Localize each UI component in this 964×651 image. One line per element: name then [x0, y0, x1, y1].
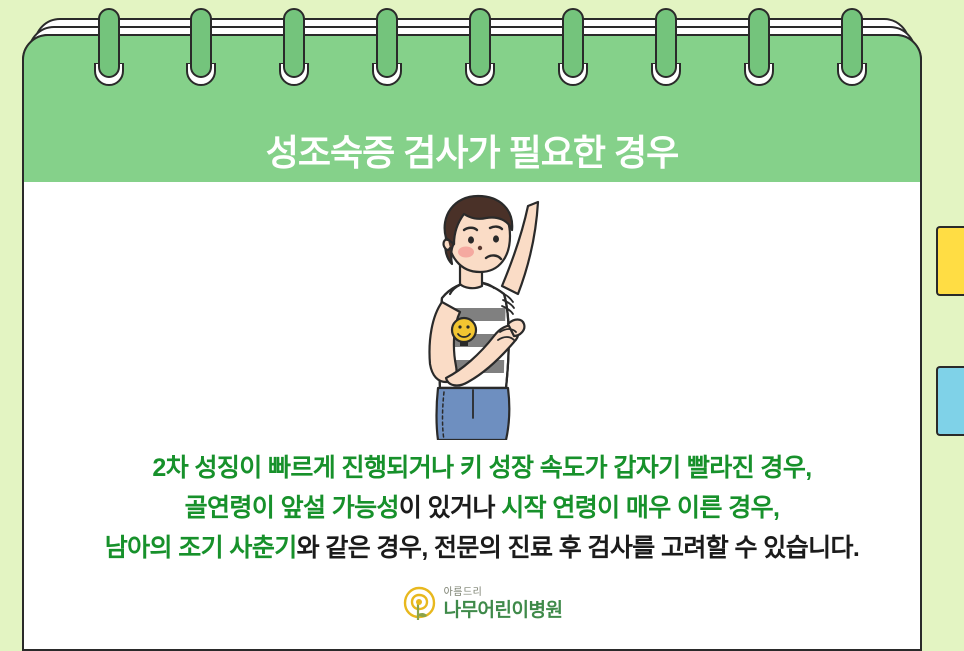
header-card: 성조숙증 검사가 필요한 경우: [22, 34, 922, 184]
side-tab-yellow[interactable]: [936, 226, 964, 296]
body-line-2-seg-2: 이 있거나: [399, 494, 501, 522]
acne-spot: [478, 246, 482, 250]
body-line-1: 2차 성징이 빠르게 진행되거나 키 성장 속도가 갑자기 빨라진 경우,: [0, 448, 964, 488]
body-text: 2차 성징이 빠르게 진행되거나 키 성장 속도가 갑자기 빨라진 경우, 골연…: [0, 448, 964, 568]
body-line-3: 남아의 조기 사춘기와 같은 경우, 전문의 진료 후 검사를 고려할 수 있습…: [0, 528, 964, 568]
boy-illustration: [382, 190, 582, 440]
body-line-2-seg-3: 시작 연령이 매우 이른 경우,: [501, 494, 779, 522]
body-line-1-seg-1: 2차 성징이 빠르게 진행되거나 키 성장 속도가 갑자기 빨라진 경우,: [152, 454, 811, 482]
poster-canvas: 성조숙증 검사가 필요한 경우: [0, 0, 964, 651]
body-line-3-seg-2: 와 같은 경우, 전문의 진료 후 검사를 고려할 수 있습니다.: [297, 534, 860, 562]
logo-text: 아름드리 나무어린이병원: [444, 588, 563, 620]
logo-subtitle: 아름드리: [444, 588, 563, 598]
tree-emblem-icon: [402, 586, 436, 622]
body-line-3-seg-1: 남아의 조기 사춘기: [105, 534, 297, 562]
body-line-2: 골연령이 앞설 가능성이 있거나 시작 연령이 매우 이른 경우,: [0, 488, 964, 528]
hospital-logo: 아름드리 나무어린이병원: [0, 586, 964, 622]
body-line-2-seg-1: 골연령이 앞설 가능성: [185, 494, 399, 522]
page-title: 성조숙증 검사가 필요한 경우: [24, 124, 920, 176]
eye-right: [493, 235, 499, 242]
logo-name: 나무어린이병원: [444, 601, 563, 620]
eye-left: [468, 236, 474, 243]
blush: [458, 247, 474, 258]
side-tab-blue[interactable]: [936, 366, 964, 436]
